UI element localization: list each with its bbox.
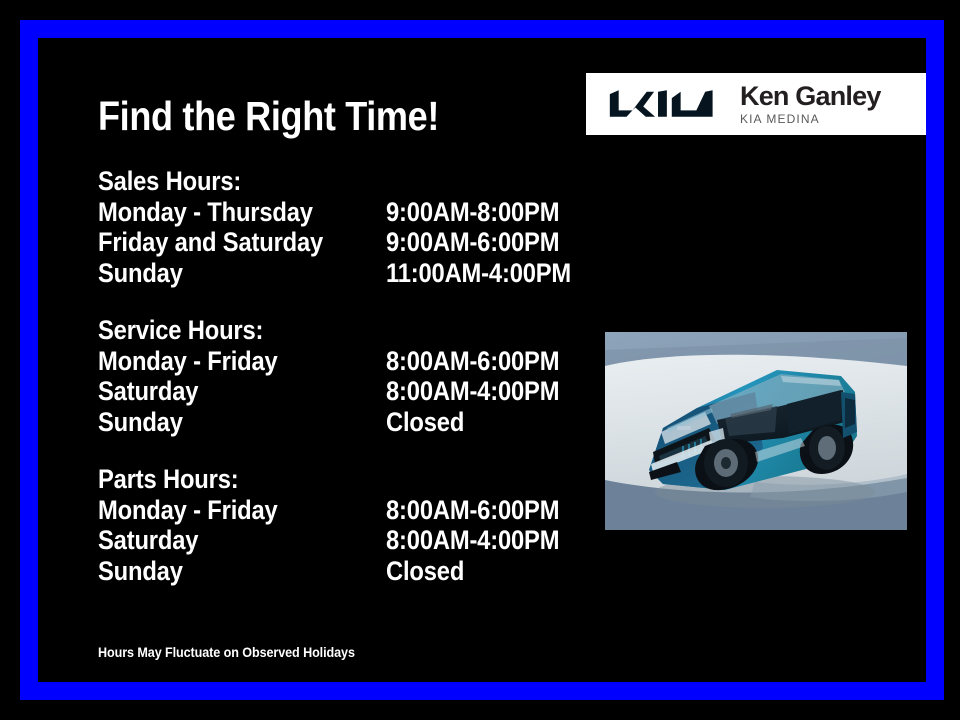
dealer-name: Ken Ganley (740, 83, 881, 111)
hours-row: Sunday Closed (98, 407, 578, 438)
hours-row-time: 8:00AM-6:00PM (386, 346, 559, 377)
dealer-subtitle: KIA MEDINA (740, 113, 881, 125)
hours-row-time: 8:00AM-6:00PM (386, 495, 559, 526)
dealership-hours-slide: Find the Right Time! Sales Hours: Monday… (0, 0, 960, 720)
hours-row-days: Monday - Friday (98, 346, 351, 377)
holiday-disclaimer: Hours May Fluctuate on Observed Holidays (98, 644, 355, 660)
hours-row-days: Sunday (98, 556, 351, 587)
hours-row: Saturday 8:00AM-4:00PM (98, 376, 578, 407)
dealer-logo-banner: Ken Ganley KIA MEDINA (586, 73, 926, 135)
hours-block-parts: Parts Hours: Monday - Friday 8:00AM-6:00… (98, 464, 578, 586)
hours-row-days: Monday - Thursday (98, 197, 351, 228)
hours-row: Monday - Friday 8:00AM-6:00PM (98, 495, 578, 526)
blue-border-frame: Find the Right Time! Sales Hours: Monday… (20, 20, 944, 700)
hours-row-days: Saturday (98, 525, 351, 556)
hours-block-sales: Sales Hours: Monday - Thursday 9:00AM-8:… (98, 166, 578, 288)
hours-row-time: Closed (386, 556, 464, 587)
hours-block-title: Service Hours: (98, 315, 520, 346)
hours-row-days: Saturday (98, 376, 351, 407)
hours-row-time: 8:00AM-4:00PM (386, 376, 559, 407)
hours-row: Friday and Saturday 9:00AM-6:00PM (98, 227, 578, 258)
hours-row: Monday - Thursday 9:00AM-8:00PM (98, 197, 578, 228)
hours-row: Saturday 8:00AM-4:00PM (98, 525, 578, 556)
kia-logo-icon (600, 87, 718, 121)
hours-block-title: Sales Hours: (98, 166, 520, 197)
dealer-name-group: Ken Ganley KIA MEDINA (740, 83, 881, 126)
hours-row: Monday - Friday 8:00AM-6:00PM (98, 346, 578, 377)
slide-content-stage: Find the Right Time! Sales Hours: Monday… (38, 38, 926, 682)
hours-list: Sales Hours: Monday - Thursday 9:00AM-8:… (98, 166, 578, 586)
hours-row: Sunday 11:00AM-4:00PM (98, 258, 578, 289)
hours-row-time: 9:00AM-6:00PM (386, 227, 559, 258)
hours-block-title: Parts Hours: (98, 464, 520, 495)
hours-row-time: 11:00AM-4:00PM (386, 258, 571, 289)
hours-row-days: Friday and Saturday (98, 227, 351, 258)
hours-row: Sunday Closed (98, 556, 578, 587)
hours-row-time: 8:00AM-4:00PM (386, 525, 559, 556)
page-title: Find the Right Time! (98, 96, 439, 137)
hours-block-service: Service Hours: Monday - Friday 8:00AM-6:… (98, 315, 578, 437)
hours-row-days: Sunday (98, 258, 351, 289)
hours-row-time: Closed (386, 407, 464, 438)
kia-ev9-suv-photo (605, 332, 907, 530)
hours-row-days: Monday - Friday (98, 495, 351, 526)
hours-row-time: 9:00AM-8:00PM (386, 197, 559, 228)
hours-row-days: Sunday (98, 407, 351, 438)
